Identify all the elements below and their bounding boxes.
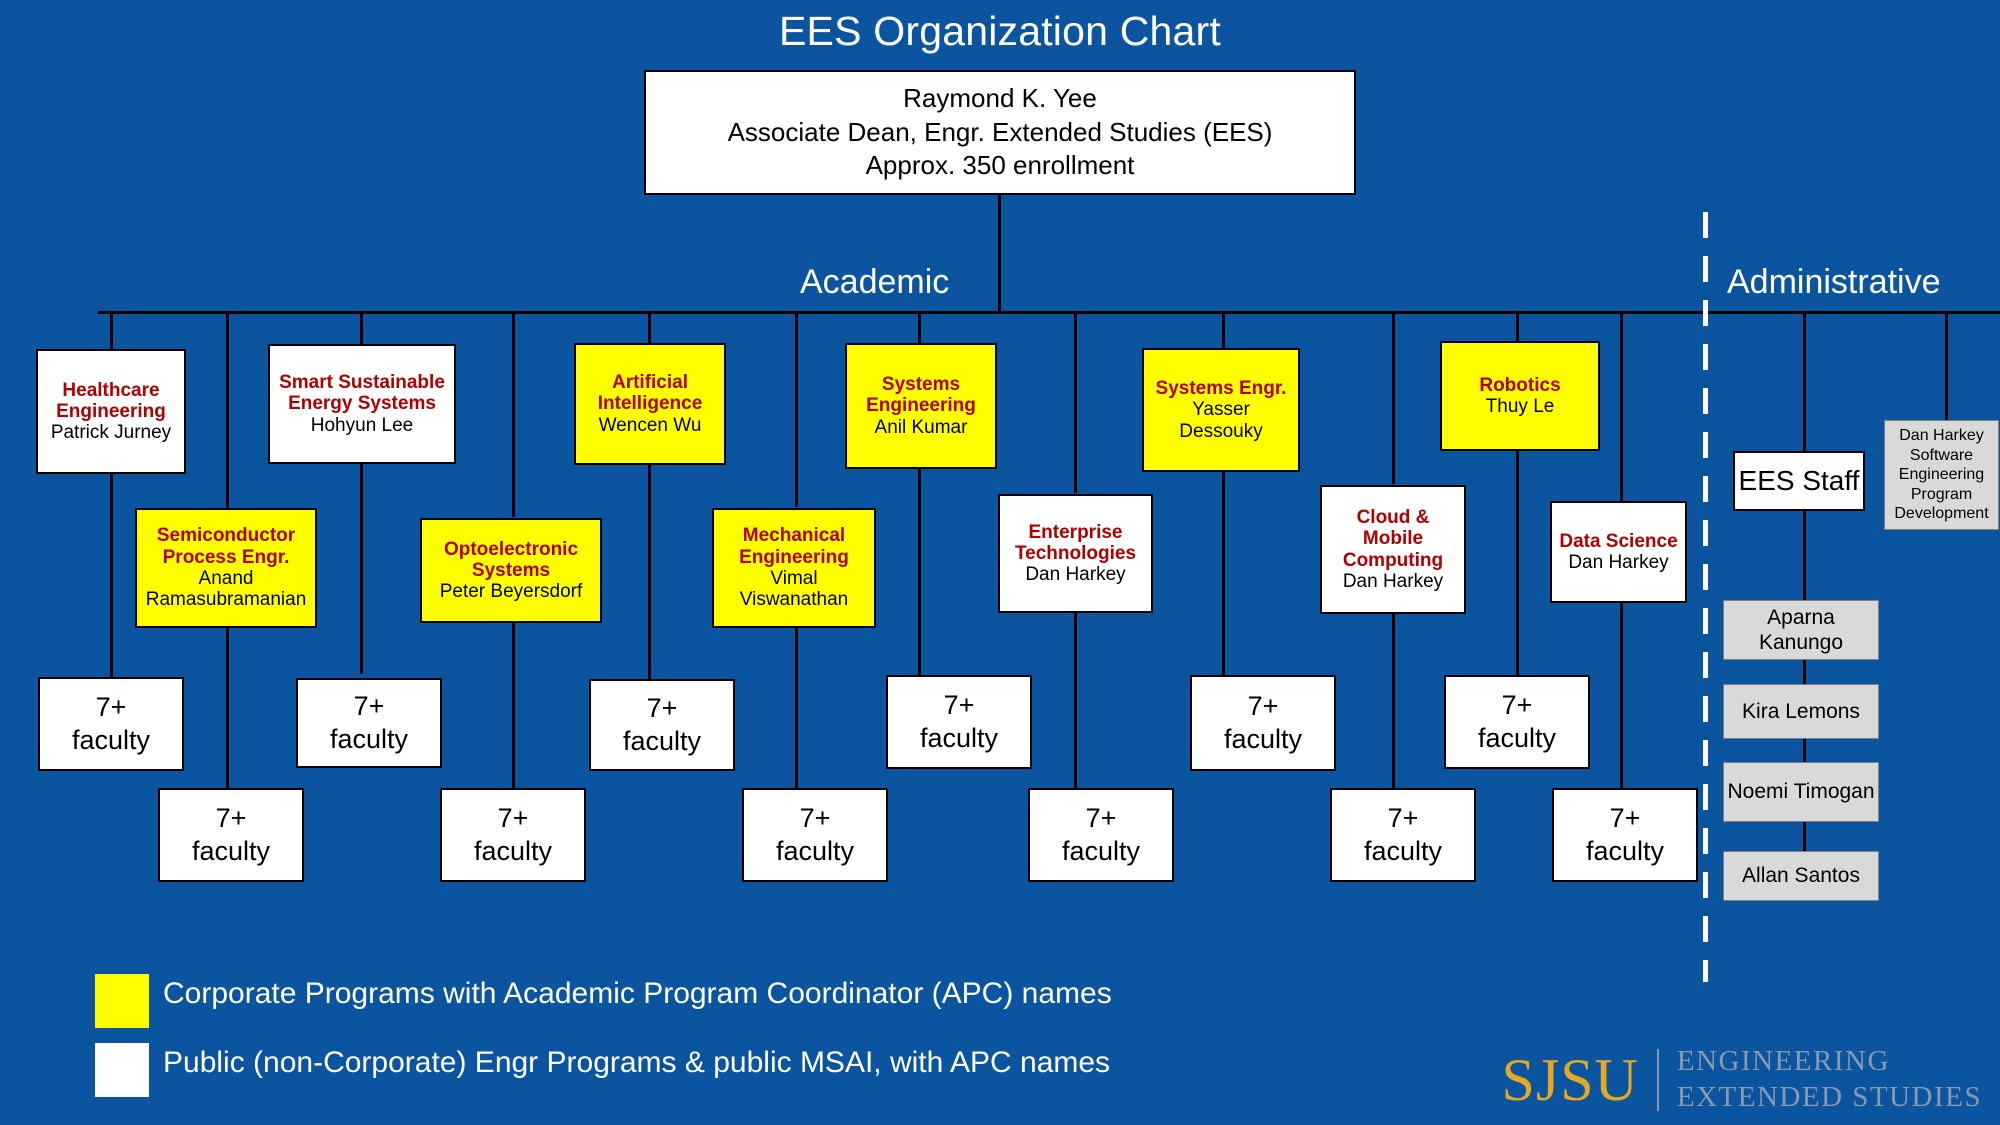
page-title: EES Organization Chart [0,8,2000,55]
faculty-node[interactable]: 7+ faculty [1330,788,1476,882]
faculty-label: faculty [623,725,701,758]
faculty-count: 7+ [647,692,678,725]
admin-staff-member[interactable]: Allan Santos [1723,851,1879,901]
faculty-count: 7+ [944,689,975,722]
faculty-count: 7+ [498,802,529,835]
program-data-science[interactable]: Data Science Dan Harkey [1550,501,1687,603]
faculty-node[interactable]: 7+ faculty [158,788,304,882]
connector-drop-r1-2 [360,311,363,344]
connector-drop-r1-3 [648,311,651,343]
faculty-count: 7+ [96,691,127,724]
program-title: Robotics [1479,375,1560,396]
note-line: Dan Harkey [1899,426,1983,446]
program-optoelectronic-systems[interactable]: Optoelectronic Systems Peter Beyersdorf [420,518,602,623]
note-line: Program [1911,485,1972,505]
program-coordinator: Dan Harkey [1343,571,1443,592]
connector-fac-u4 [918,469,921,675]
logo-subtext-line2: EXTENDED STUDIES [1677,1080,1982,1115]
connector-drop-r2-1 [226,311,229,517]
admin-staff-name: Noemi Timogan [1727,779,1874,804]
admin-staff-member[interactable]: Kira Lemons [1723,684,1879,739]
faculty-node[interactable]: 7+ faculty [1444,675,1590,769]
program-coordinator: Thuy Le [1486,396,1555,417]
faculty-label: faculty [1062,835,1140,868]
logo-subtext: ENGINEERING EXTENDED STUDIES [1677,1044,1982,1115]
program-artificial-intelligence[interactable]: Artificial Intelligence Wencen Wu [574,343,726,465]
connector-fac-u2 [360,464,363,674]
program-coordinator: Vimal Viswanathan [719,568,869,611]
program-coordinator: Peter Beyersdorf [440,581,583,602]
program-coordinator: Hohyun Lee [311,415,413,436]
connector-fac-l2 [512,623,515,788]
connector-fac-l5 [1392,614,1395,788]
connector-fac-u1 [110,474,113,677]
faculty-label: faculty [1478,722,1556,755]
sjsu-engineering-extended-studies-logo: SJSU ENGINEERING EXTENDED STUDIES [1501,1044,1982,1115]
legend-swatch-corporate [95,974,149,1028]
program-title: Systems Engineering [852,374,990,417]
connector-drop-r1-4 [918,311,921,343]
faculty-label: faculty [330,723,408,756]
connector-root-stem [998,195,1001,313]
connector-fac-u5 [1222,472,1225,675]
root-name: Raymond K. Yee [903,82,1097,116]
connector-fac-u6 [1516,451,1519,675]
program-coordinator: Patrick Jurney [51,422,171,443]
admin-note-dan-harkey-software-engineering[interactable]: Dan Harkey Software Engineering Program … [1884,420,1999,530]
faculty-count: 7+ [1086,802,1117,835]
faculty-count: 7+ [354,690,385,723]
program-systems-engineering[interactable]: Systems Engineering Anil Kumar [845,343,997,469]
connector-drop-r1-1 [110,311,113,349]
connector-admin-staff-stem [1803,311,1806,451]
faculty-node[interactable]: 7+ faculty [38,677,184,771]
program-healthcare-engineering[interactable]: Healthcare Engineering Patrick Jurney [36,349,186,474]
admin-ees-staff[interactable]: EES Staff [1733,451,1865,511]
note-line: Engineering [1899,465,1984,485]
faculty-count: 7+ [800,802,831,835]
section-label-academic: Academic [800,263,949,302]
faculty-count: 7+ [1610,802,1641,835]
program-title: Systems Engr. [1156,378,1287,399]
program-title: Data Science [1559,531,1677,552]
faculty-node[interactable]: 7+ faculty [742,788,888,882]
section-label-administrative: Administrative [1727,263,1941,302]
admin-staff-name: Aparna Kanungo [1724,605,1878,655]
note-line: Software [1910,446,1973,466]
program-title: Smart Sustainable Energy Systems [275,372,449,415]
admin-staff-name: Allan Santos [1742,863,1860,888]
program-smart-sustainable-energy-systems[interactable]: Smart Sustainable Energy Systems Hohyun … [268,344,456,464]
program-coordinator: Anand Ramasubramanian [142,568,310,611]
program-coordinator: Wencen Wu [599,415,702,436]
program-coordinator: Dan Harkey [1568,552,1668,573]
connector-drop-r2-3 [795,311,798,507]
program-title: Optoelectronic Systems [427,539,595,582]
admin-staff-name: Kira Lemons [1742,699,1860,724]
faculty-count: 7+ [1388,802,1419,835]
logo-subtext-line1: ENGINEERING [1677,1044,1982,1079]
faculty-count: 7+ [1248,690,1279,723]
legend-text-corporate: Corporate Programs with Academic Program… [163,977,1112,1011]
faculty-label: faculty [1364,835,1442,868]
faculty-label: faculty [72,724,150,757]
faculty-node[interactable]: 7+ faculty [1190,675,1336,771]
program-cloud-mobile-computing[interactable]: Cloud & Mobile Computing Dan Harkey [1320,485,1466,614]
connector-admin-bus [1708,311,2000,314]
connector-drop-r1-6 [1516,311,1519,341]
faculty-label: faculty [920,722,998,755]
program-coordinator: Anil Kumar [875,417,968,438]
program-coordinator: Dan Harkey [1025,564,1125,585]
connector-drop-r2-5 [1392,311,1395,484]
program-robotics[interactable]: Robotics Thuy Le [1440,341,1600,451]
connector-admin-note-stem [1945,311,1948,421]
program-title: Semiconductor Process Engr. [142,525,310,568]
faculty-label: faculty [776,835,854,868]
connector-drop-r2-4 [1074,311,1077,493]
faculty-count: 7+ [216,802,247,835]
admin-staff-member[interactable]: Aparna Kanungo [1723,600,1879,660]
program-title: Healthcare Engineering [43,380,179,423]
connector-drop-r2-2 [512,311,515,517]
faculty-label: faculty [1586,835,1664,868]
legend-swatch-public [95,1043,149,1097]
root-node-associate-dean[interactable]: Raymond K. Yee Associate Dean, Engr. Ext… [644,70,1356,195]
logo-divider [1657,1049,1659,1111]
admin-staff-member[interactable]: Noemi Timogan [1723,762,1879,822]
connector-drop-r2-6 [1620,311,1623,501]
program-title: Enterprise Technologies [1005,522,1146,565]
note-line: Development [1894,504,1988,524]
faculty-node[interactable]: 7+ faculty [589,679,735,771]
faculty-node[interactable]: 7+ faculty [440,788,586,882]
connector-fac-l6 [1620,603,1623,788]
connector-fac-u3 [648,465,651,679]
program-semiconductor-process-engr[interactable]: Semiconductor Process Engr. Anand Ramasu… [135,508,317,628]
connector-fac-l3 [795,628,798,788]
faculty-node[interactable]: 7+ faculty [886,675,1032,769]
faculty-label: faculty [192,835,270,868]
program-enterprise-technologies[interactable]: Enterprise Technologies Dan Harkey [998,494,1153,613]
faculty-label: faculty [474,835,552,868]
faculty-label: faculty [1224,723,1302,756]
connector-fac-l1 [226,628,229,788]
root-role: Associate Dean, Engr. Extended Studies (… [728,116,1273,150]
faculty-node[interactable]: 7+ faculty [1552,788,1698,882]
program-title: Artificial Intelligence [581,372,719,415]
faculty-node[interactable]: 7+ faculty [296,678,442,768]
connector-fac-l4 [1074,613,1077,788]
faculty-count: 7+ [1502,689,1533,722]
legend-text-public: Public (non-Corporate) Engr Programs & p… [163,1046,1110,1080]
academic-admin-divider [1703,212,1708,982]
root-enrollment: Approx. 350 enrollment [866,149,1135,183]
program-title: Mechanical Engineering [719,525,869,568]
connector-academic-bus [98,311,1708,314]
program-mechanical-engineering[interactable]: Mechanical Engineering Vimal Viswanathan [712,508,876,628]
sjsu-wordmark: SJSU [1501,1050,1638,1110]
connector-drop-r1-5 [1222,311,1225,348]
admin-ees-staff-label: EES Staff [1739,465,1860,496]
org-chart-canvas: EES Organization Chart Raymond K. Yee As… [0,0,2000,1125]
faculty-node[interactable]: 7+ faculty [1028,788,1174,882]
program-coordinator: Yasser Dessouky [1149,399,1293,442]
program-title: Cloud & Mobile Computing [1327,507,1459,571]
program-systems-engr[interactable]: Systems Engr. Yasser Dessouky [1142,348,1300,472]
